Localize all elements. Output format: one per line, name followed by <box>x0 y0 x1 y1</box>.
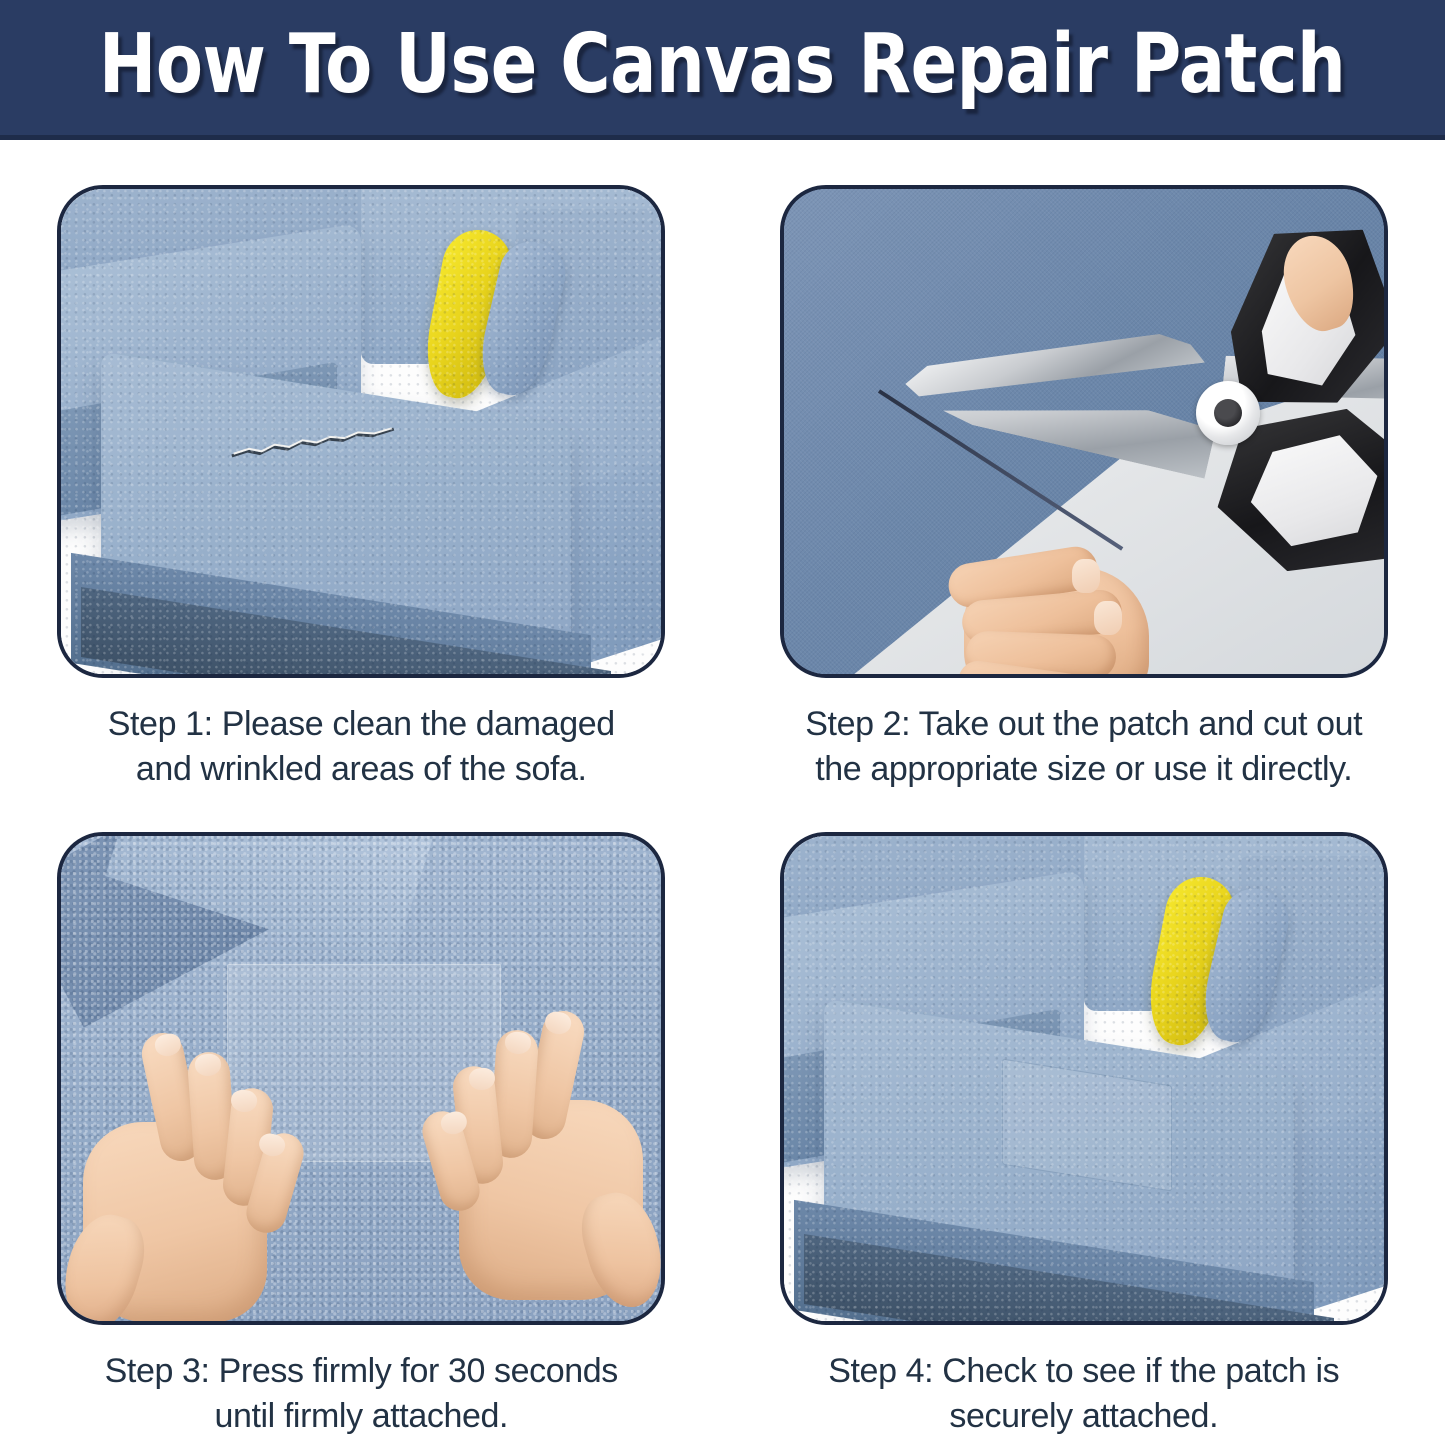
step-4-caption-line-2: securely attached. <box>789 1394 1379 1439</box>
sofa-damaged-illustration <box>61 189 661 674</box>
step-card-2: Step 2: Take out the patch and cut out t… <box>723 145 1445 792</box>
step-2-caption-line-1: Step 2: Take out the patch and cut out <box>789 702 1379 747</box>
step-3-caption-line-1: Step 3: Press firmly for 30 seconds <box>66 1349 656 1394</box>
header-banner: How To Use Canvas Repair Patch <box>0 0 1445 140</box>
cutting-patch-illustration <box>784 189 1384 674</box>
step-4-caption-line-1: Step 4: Check to see if the patch is <box>789 1349 1379 1394</box>
step-card-3: Step 3: Press firmly for 30 seconds unti… <box>0 792 723 1439</box>
left-hand <box>67 1026 297 1321</box>
step-2-caption-line-2: the appropriate size or use it directly. <box>789 747 1379 792</box>
step-2-photo <box>780 185 1388 678</box>
right-hand <box>429 1004 659 1304</box>
step-4-caption: Step 4: Check to see if the patch is sec… <box>789 1349 1379 1439</box>
pressing-patch-illustration <box>61 836 661 1321</box>
step-4-photo <box>780 832 1388 1325</box>
page-title: How To Use Canvas Repair Patch <box>99 24 1346 112</box>
step-1-caption: Step 1: Please clean the damaged and wri… <box>66 702 656 792</box>
step-1-photo <box>57 185 665 678</box>
step-3-photo <box>57 832 665 1325</box>
step-card-1: Step 1: Please clean the damaged and wri… <box>0 145 723 792</box>
steps-grid: Step 1: Please clean the damaged and wri… <box>0 145 1445 1406</box>
step-1-caption-line-1: Step 1: Please clean the damaged <box>66 702 656 747</box>
step-1-caption-line-2: and wrinkled areas of the sofa. <box>66 747 656 792</box>
step-3-caption: Step 3: Press firmly for 30 seconds unti… <box>66 1349 656 1439</box>
step-2-caption: Step 2: Take out the patch and cut out t… <box>789 702 1379 792</box>
step-card-4: Step 4: Check to see if the patch is sec… <box>723 792 1445 1439</box>
scissors-icon <box>1074 199 1384 599</box>
sofa-repaired-illustration <box>784 836 1384 1321</box>
step-3-caption-line-2: until firmly attached. <box>66 1394 656 1439</box>
